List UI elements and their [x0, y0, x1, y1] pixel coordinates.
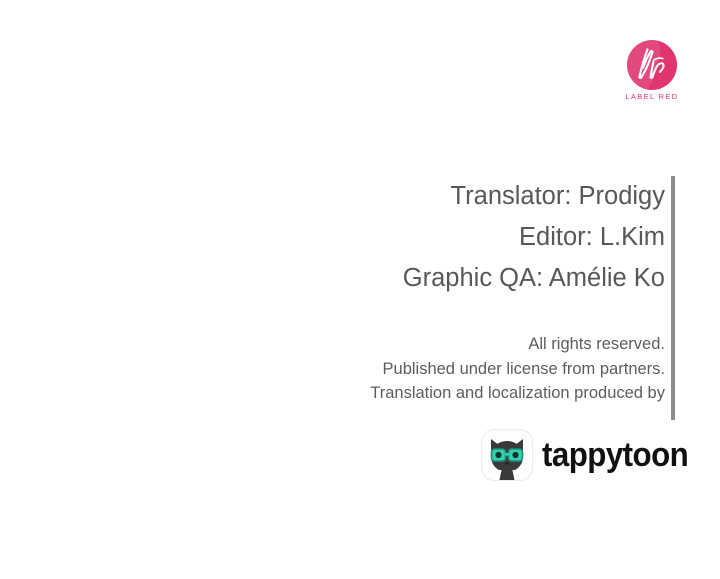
credit-line-translator: Translator: Prodigy	[145, 176, 665, 217]
legal-line-rights: All rights reserved.	[125, 332, 665, 357]
legal-line-produced-by: Translation and localization produced by	[125, 381, 665, 406]
label-red-logo: LABEL RED	[606, 40, 698, 112]
label-red-monogram-icon	[627, 40, 677, 90]
credits-page: LABEL RED Translator: Prodigy Editor: L.…	[0, 0, 720, 579]
tappytoon-logo: tappytoon	[481, 429, 701, 481]
credit-line-graphic-qa: Graphic QA: Amélie Ko	[145, 258, 665, 299]
credit-line-editor: Editor: L.Kim	[145, 217, 665, 258]
label-red-circle-mark	[627, 40, 677, 90]
tappytoon-wordmark: tappytoon	[542, 438, 688, 472]
legal-block: All rights reserved. Published under lic…	[125, 332, 665, 406]
vertical-divider	[671, 176, 675, 420]
tappytoon-mascot-icon	[481, 429, 533, 481]
label-red-wordmark: LABEL RED	[625, 93, 678, 101]
legal-line-license: Published under license from partners.	[125, 357, 665, 382]
cat-with-glasses-icon	[482, 430, 532, 480]
credits-block: Translator: Prodigy Editor: L.Kim Graphi…	[145, 176, 665, 299]
